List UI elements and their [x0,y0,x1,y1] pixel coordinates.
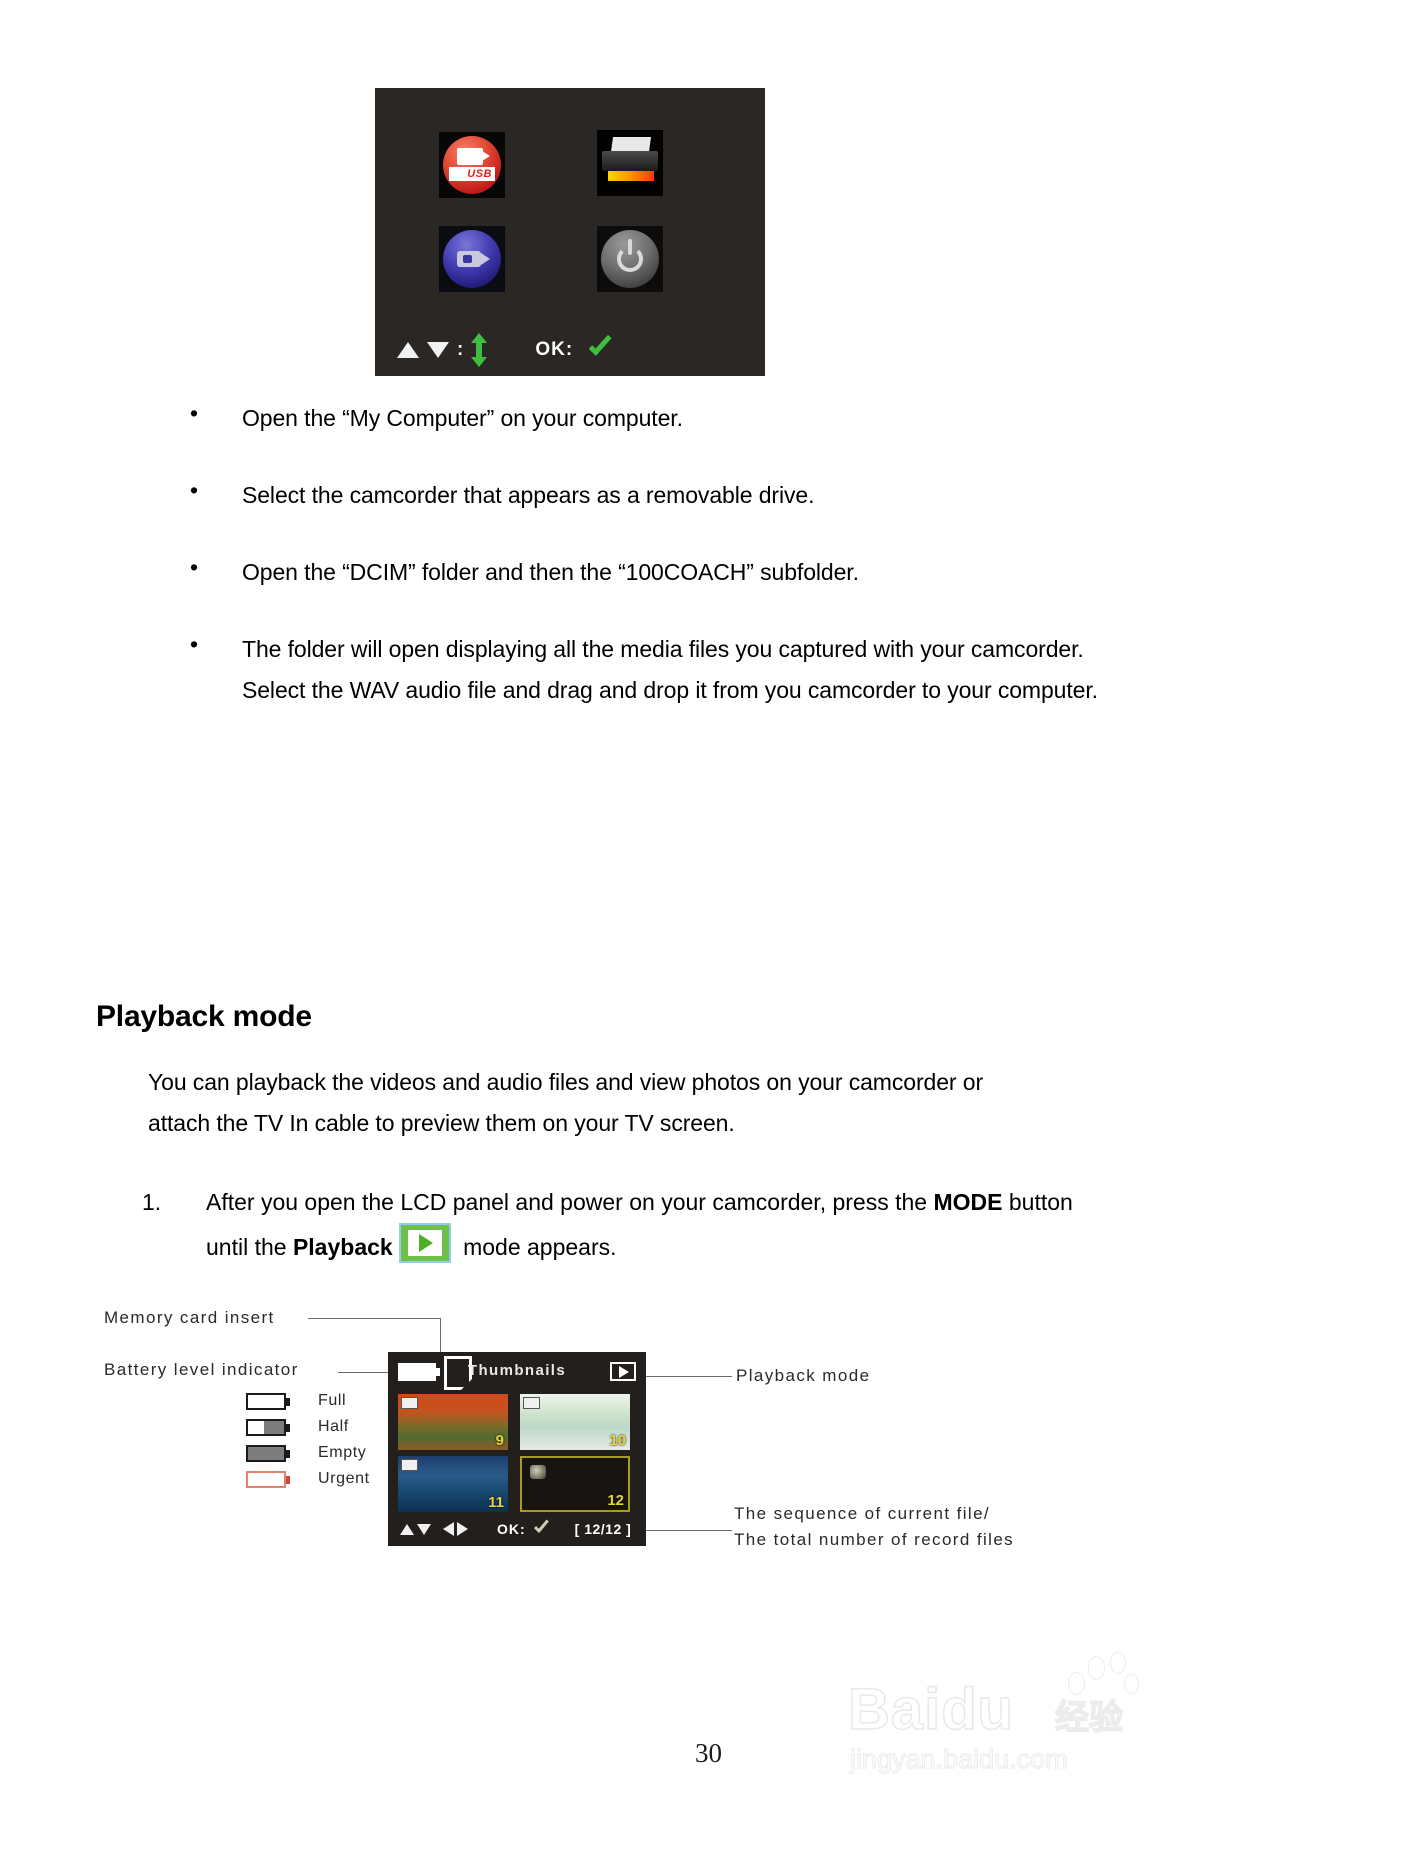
playback-mode-icon [610,1362,636,1381]
list-item: Full [246,1388,370,1414]
list-item: • Select the camcorder that appears as a… [190,475,1120,516]
printer-paper [611,137,651,152]
triangle-left-icon [443,1522,454,1536]
bullet-text: Open the “My Computer” on your computer. [242,398,683,439]
step-text-part3: mode appears. [457,1234,617,1260]
nav-separator: : [457,339,463,361]
battery-empty-icon [246,1445,290,1462]
step-mode-bold: MODE [933,1189,1002,1215]
menu-bottom-bar: : OK: [375,324,765,376]
battery-legend-label: Urgent [318,1470,370,1488]
step-text: After you open the LCD panel and power o… [206,1180,1102,1270]
triangle-up-icon [400,1524,414,1535]
power-off-cell [597,226,663,292]
leader-battery-level [338,1372,394,1373]
lcd-title: Thumbnails [388,1362,646,1379]
leader-file-sequence [646,1530,732,1531]
baidu-paw-icon [1066,1650,1140,1706]
list-item: Empty [246,1440,370,1466]
up-down-arrow-icon [471,333,487,367]
triangle-down-icon [417,1524,431,1535]
printer-body [602,151,658,171]
pictbridge-printer-cell [597,130,663,196]
bullet-marker: • [190,629,242,711]
battery-urgent-icon [246,1471,290,1488]
step-text-part1: After you open the LCD panel and power o… [206,1189,933,1215]
ok-label: OK: [497,1521,526,1537]
lcd-bottom-bar: OK: [ 12/12 ] [388,1512,646,1546]
bullet-marker: • [190,475,242,516]
label-sequence-line2: The total number of record files [734,1530,1014,1550]
page-number: 30 [0,1738,1417,1769]
thumbnail-grid: 9 10 11 12 [398,1394,636,1512]
battery-legend-label: Half [318,1418,349,1436]
usb-mass-storage-cell: USB [439,132,505,198]
thumbnail-index: 12 [607,1492,624,1509]
bullet-text: Open the “DCIM” folder and then the “100… [242,552,859,593]
lcd-thumbnails-screen: Thumbnails 9 10 11 12 [388,1352,646,1546]
ok-label: OK: [535,339,573,361]
battery-full-icon [246,1393,290,1410]
section-paragraph: You can playback the videos and audio fi… [148,1062,1048,1144]
list-item: • Open the “My Computer” on your compute… [190,398,1120,439]
label-playback-mode: Playback mode [736,1366,870,1386]
leader-playback-mode [646,1376,732,1377]
power-off-icon [601,230,659,288]
thumbnail-index: 11 [488,1494,504,1511]
battery-legend-label: Empty [318,1444,366,1462]
triangle-up-icon [397,342,419,358]
playback-mode-chip-icon [401,1225,449,1261]
playback-screen-diagram: Memory card insert Battery level indicat… [96,1290,1096,1570]
camcorder-glyph [457,251,481,267]
usb-label: USB [449,167,495,181]
list-item: • The folder will open displaying all th… [190,629,1120,711]
pc-camera-cell [439,226,505,292]
bullet-marker: • [190,398,242,439]
list-item: • Open the “DCIM” folder and then the “1… [190,552,1120,593]
media-type-icon [523,1397,540,1409]
camera-glyph [457,148,483,165]
pictbridge-printer-icon [600,137,660,189]
bullet-text: The folder will open displaying all the … [242,629,1120,711]
instruction-bullet-list: • Open the “My Computer” on your compute… [190,398,1120,747]
printer-output-strip [608,171,654,181]
pc-camera-icon [443,230,501,288]
power-bar [628,239,632,255]
thumbnail-item[interactable]: 9 [398,1394,508,1450]
step-playback-bold: Playback [293,1234,393,1260]
checkmark-icon [533,1521,550,1537]
step-number: 1. [142,1180,206,1270]
watermark-brand-cn: 经验 [1055,1690,1123,1739]
thumbnail-item[interactable]: 11 [398,1456,508,1512]
battery-legend: Full Half Empty Urgent [246,1388,370,1492]
bullet-text: Select the camcorder that appears as a r… [242,475,814,516]
battery-half-icon [246,1419,290,1436]
usb-menu-screenshot: USB : OK: [375,88,765,376]
media-type-icon [530,1465,546,1479]
label-memory-card-insert: Memory card insert [104,1308,275,1328]
bullet-marker: • [190,552,242,593]
thumbnail-item-selected[interactable]: 12 [520,1456,630,1512]
list-item: Urgent [246,1466,370,1492]
triangle-right-icon [457,1522,468,1536]
triangle-down-icon [427,342,449,358]
page-title: Playback mode [96,1000,312,1034]
label-battery-level-indicator: Battery level indicator [104,1360,299,1380]
file-counter: [ 12/12 ] [575,1521,632,1537]
media-type-icon [401,1397,418,1409]
battery-legend-label: Full [318,1392,346,1410]
numbered-step-1: 1. After you open the LCD panel and powe… [142,1180,1102,1270]
lcd-top-bar: Thumbnails [388,1352,646,1394]
checkmark-icon [587,337,613,363]
watermark-brand: Baidu [848,1676,1014,1743]
leader-memory-card [308,1318,440,1319]
thumbnail-item[interactable]: 10 [520,1394,630,1450]
usb-mass-storage-icon: USB [443,136,501,194]
list-item: Half [246,1414,370,1440]
label-sequence-line1: The sequence of current file/ [734,1504,990,1524]
media-type-icon [401,1459,418,1471]
thumbnail-index: 10 [609,1432,626,1449]
thumbnail-index: 9 [496,1432,504,1449]
